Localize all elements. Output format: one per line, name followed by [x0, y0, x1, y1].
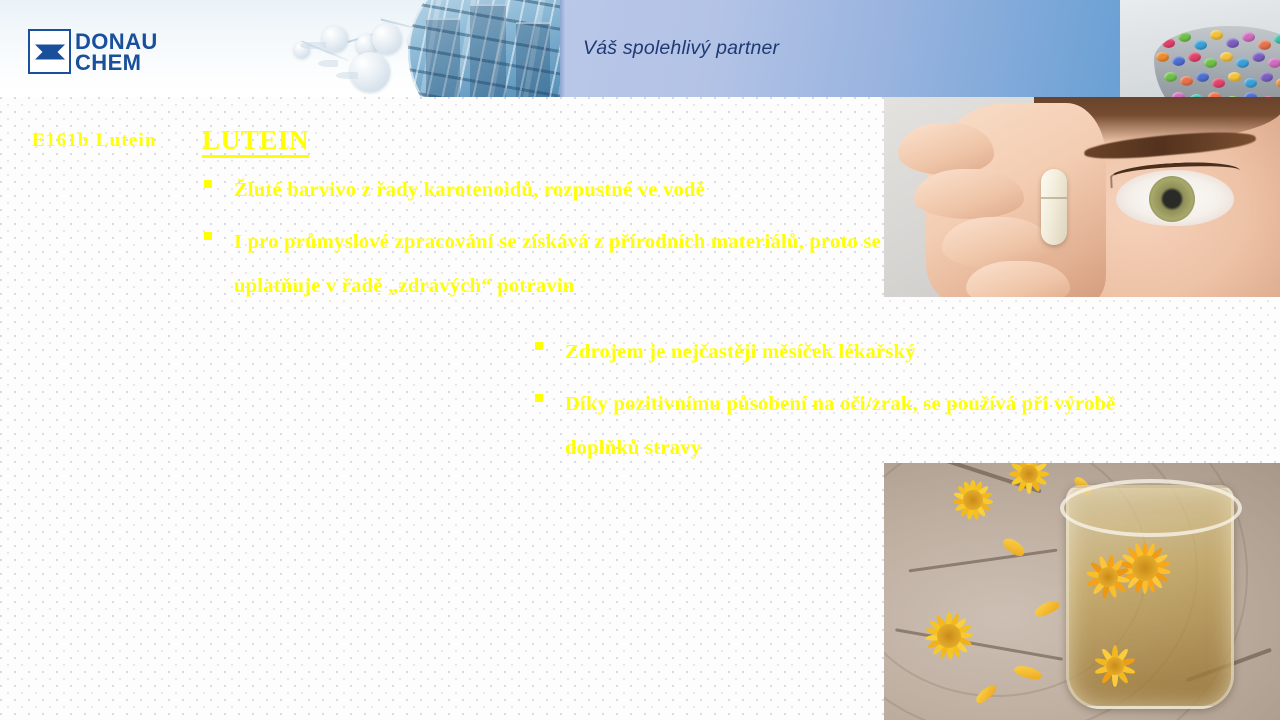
header-tagline: Váš spolehlivý partner: [583, 37, 779, 60]
bullet-list-left: Žluté barvivo z řady karotenoidů, rozpus…: [199, 168, 889, 316]
bullet-list-right: Zdrojem je nejčastěji měsíček lékařský D…: [530, 330, 1150, 478]
side-label-e-number: E161b Lutein: [32, 130, 157, 152]
bullet-text: Žluté barvivo z řady karotenoidů, rozpus…: [234, 168, 705, 212]
bullet-text: Zdrojem je nejčastěji měsíček lékařský: [565, 330, 916, 374]
flower: [908, 595, 990, 677]
list-item: Díky pozitivnímu působení na oči/zrak, s…: [530, 382, 1150, 470]
industrial-building-circle-photo: [408, 0, 580, 97]
bullet-text: Díky pozitivnímu působení na oči/zrak, s…: [565, 382, 1150, 470]
bullet-text: I pro průmyslové zpracování se získává z…: [234, 220, 889, 308]
header-band-edge: [560, 0, 565, 97]
bullet-square-icon: [535, 342, 543, 350]
list-item: I pro průmyslové zpracování se získává z…: [199, 220, 889, 308]
donau-hourglass-icon: [28, 29, 71, 74]
slide-root: DONAU CHEM Váš spolehlivý partner E161b …: [0, 0, 1280, 720]
flower: [1072, 541, 1144, 613]
donau-chem-logo: DONAU CHEM: [28, 29, 158, 74]
candy-bowl-photo: [1120, 0, 1280, 97]
bullet-square-icon: [204, 232, 212, 240]
color-fan-deck-photo: [0, 382, 504, 720]
bullet-square-icon: [535, 394, 543, 402]
list-item: Žluté barvivo z řady karotenoidů, rozpus…: [199, 168, 889, 212]
logo-line-1: DONAU: [75, 31, 158, 52]
page-title: LUTEIN: [202, 126, 309, 158]
calendula-jar-photo: [884, 463, 1280, 720]
eye-capsule-photo: [884, 97, 1280, 297]
flower: [1080, 631, 1150, 701]
slide-header: DONAU CHEM Váš spolehlivý partner: [0, 0, 1280, 97]
logo-line-2: CHEM: [75, 52, 158, 73]
bullet-square-icon: [204, 180, 212, 188]
list-item: Zdrojem je nejčastěji měsíček lékařský: [530, 330, 1150, 374]
